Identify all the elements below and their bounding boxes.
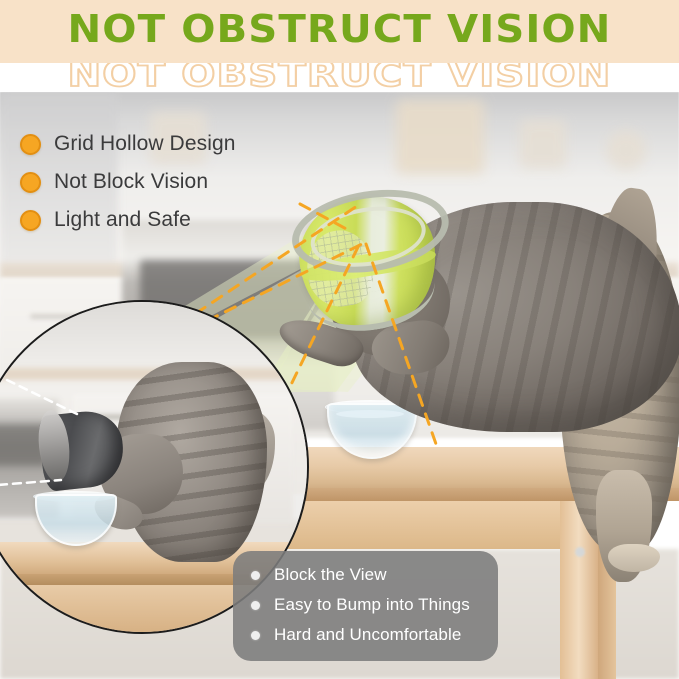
orange-bullet-icon (20, 134, 41, 155)
orange-bullet-icon (20, 172, 41, 193)
shelf-decor-far-right (606, 130, 646, 170)
shelf-decor-right (520, 120, 566, 168)
cons-list-item: Hard and Uncomfortable (251, 625, 498, 645)
banner-bar: NOT OBSTRUCT VISION (0, 0, 679, 63)
bowl-water-surface (336, 410, 404, 418)
page-title: NOT OBSTRUCT VISION (0, 7, 679, 51)
table-screw (575, 547, 585, 557)
white-bullet-icon (251, 571, 260, 580)
pros-list-item: Grid Hollow Design (20, 132, 350, 156)
cons-item-label: Easy to Bump into Things (274, 595, 470, 615)
product-feature-image: Grid Hollow Design Not Block Vision Ligh… (0, 0, 679, 679)
cons-item-label: Block the View (274, 565, 387, 585)
pros-item-label: Light and Safe (54, 208, 191, 232)
pros-item-label: Grid Hollow Design (54, 132, 236, 156)
orange-bullet-icon (20, 210, 41, 231)
cons-callout-panel: Block the View Easy to Bump into Things … (233, 551, 498, 661)
cons-list-item: Block the View (251, 565, 498, 585)
inset-blocked-ray-lower (0, 480, 61, 486)
white-bullet-icon (251, 601, 260, 610)
pros-list-item: Not Block Vision (20, 170, 350, 194)
white-bullet-icon (251, 631, 260, 640)
pros-feature-list: Grid Hollow Design Not Block Vision Ligh… (20, 132, 350, 246)
shelf-decor-mid (396, 100, 484, 174)
pros-item-label: Not Block Vision (54, 170, 208, 194)
pros-list-item: Light and Safe (20, 208, 350, 232)
cons-item-label: Hard and Uncomfortable (274, 625, 461, 645)
inset-blocked-ray-upper (7, 380, 77, 414)
cons-list-item: Easy to Bump into Things (251, 595, 498, 615)
